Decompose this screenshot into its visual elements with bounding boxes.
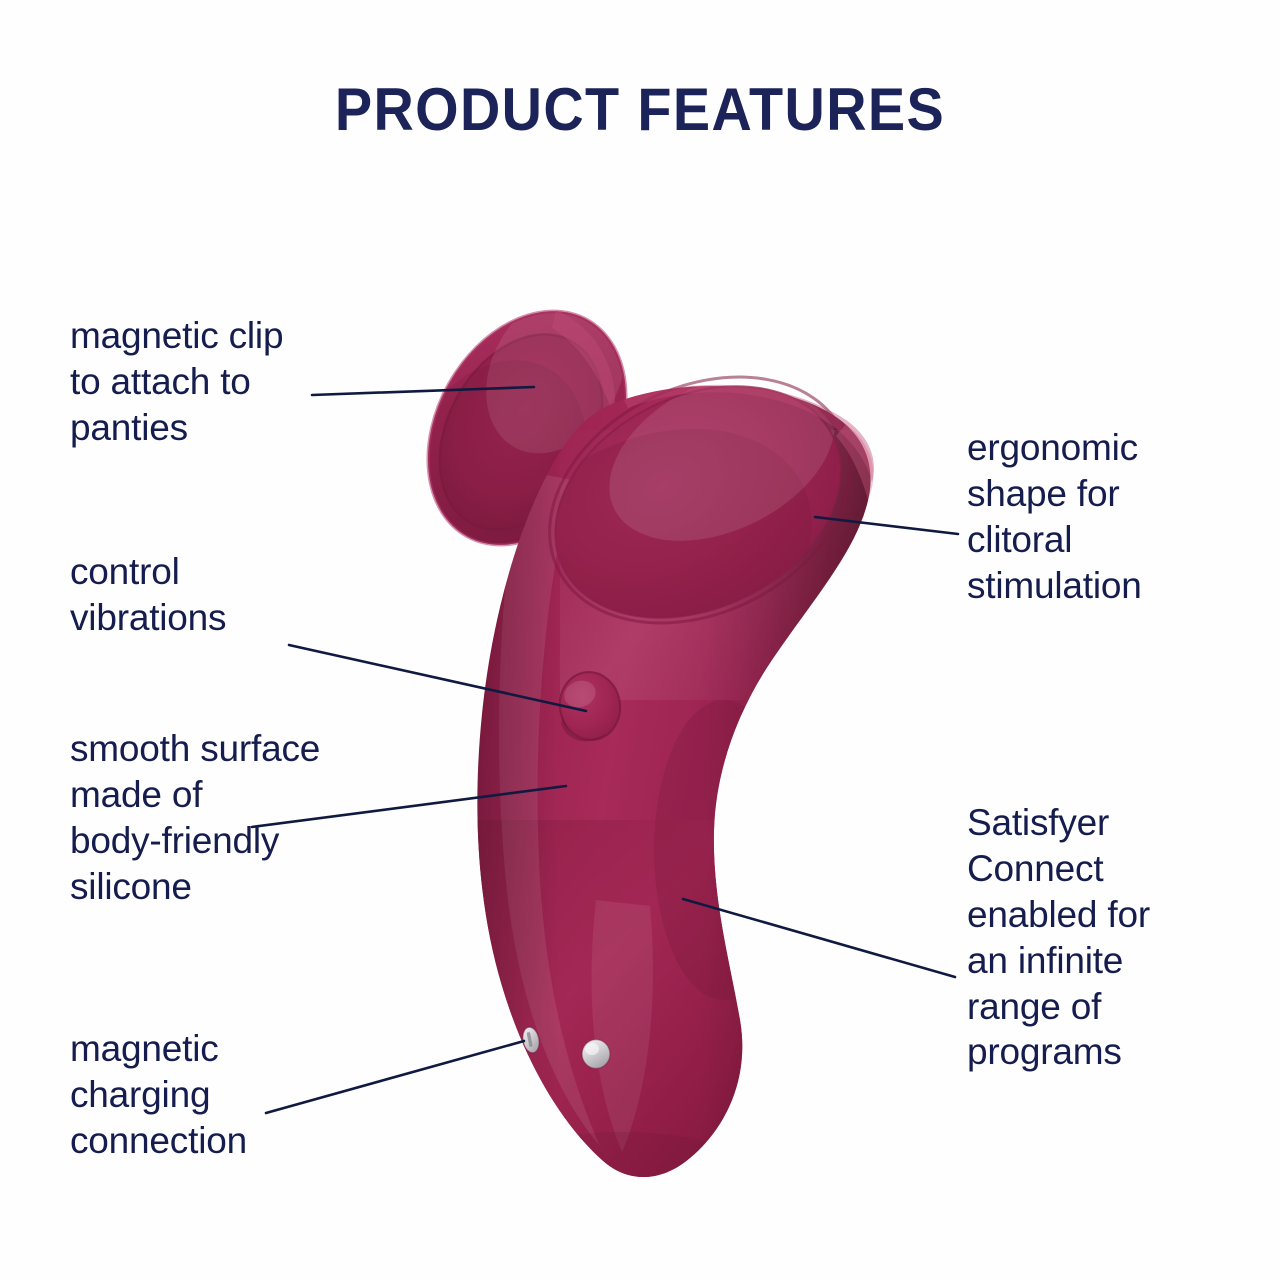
callout-label-ergonomic-shape: ergonomic shape for clitoral stimulation: [967, 425, 1267, 609]
charging-contact-large: [582, 1040, 610, 1069]
callout-label-satisfyer-connect: Satisfyer Connect enabled for an infinit…: [967, 800, 1267, 1075]
callout-label-smooth-surface: smooth surface made of body-friendly sil…: [70, 726, 420, 910]
callout-label-magnetic-clip: magnetic clip to attach to panties: [70, 313, 400, 451]
callout-label-magnetic-charging: magnetic charging connection: [70, 1026, 370, 1164]
product-features-diagram: PRODUCT FEATURES: [0, 0, 1280, 1280]
callout-label-control-vibrations: control vibrations: [70, 549, 370, 641]
